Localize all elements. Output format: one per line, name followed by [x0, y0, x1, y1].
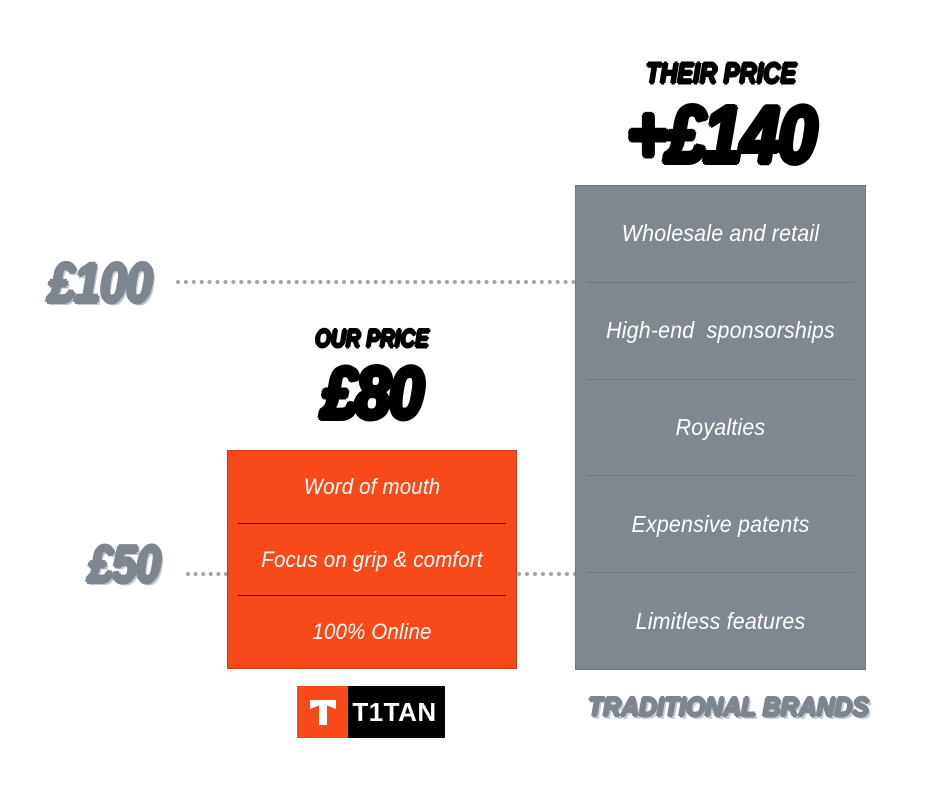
axis-price-upper: £100 [48, 250, 152, 315]
titan-cost-column: Word of mouth Focus on grip & comfort 10… [227, 450, 517, 669]
comparison-infographic: £100 £50 THEIR PRICE +£140 OUR PRICE £80… [0, 0, 929, 800]
traditional-cost-item: Limitless features [586, 572, 855, 669]
titan-t-icon [297, 686, 348, 738]
titan-logo: T1TAN [297, 686, 445, 738]
titan-cost-item: 100% Online [238, 595, 506, 668]
connector-line-50-right [517, 572, 577, 576]
traditional-cost-item: Expensive patents [586, 475, 855, 572]
their-price-kicker: THEIR PRICE [594, 58, 848, 91]
their-price-amount: +£140 [585, 97, 858, 173]
axis-price-lower: £50 [88, 535, 160, 595]
traditional-cost-item: High-end sponsorships [586, 282, 855, 379]
our-price-kicker: OUR PRICE [249, 325, 495, 354]
connector-line-50-left [186, 572, 228, 576]
traditional-brands-label: TRADITIONAL BRANDS [588, 692, 869, 723]
titan-wordmark: T1TAN [348, 686, 445, 738]
traditional-cost-column: Wholesale and retail High-end sponsorshi… [575, 185, 866, 670]
connector-line-100 [176, 280, 576, 284]
our-price-amount: £80 [240, 360, 504, 428]
traditional-cost-item: Royalties [586, 379, 855, 476]
traditional-cost-item: Wholesale and retail [586, 186, 855, 282]
titan-cost-item: Focus on grip & comfort [238, 523, 506, 596]
titan-cost-item: Word of mouth [238, 451, 506, 523]
their-price-headline: THEIR PRICE +£140 [566, 58, 876, 173]
our-price-headline: OUR PRICE £80 [222, 325, 522, 428]
